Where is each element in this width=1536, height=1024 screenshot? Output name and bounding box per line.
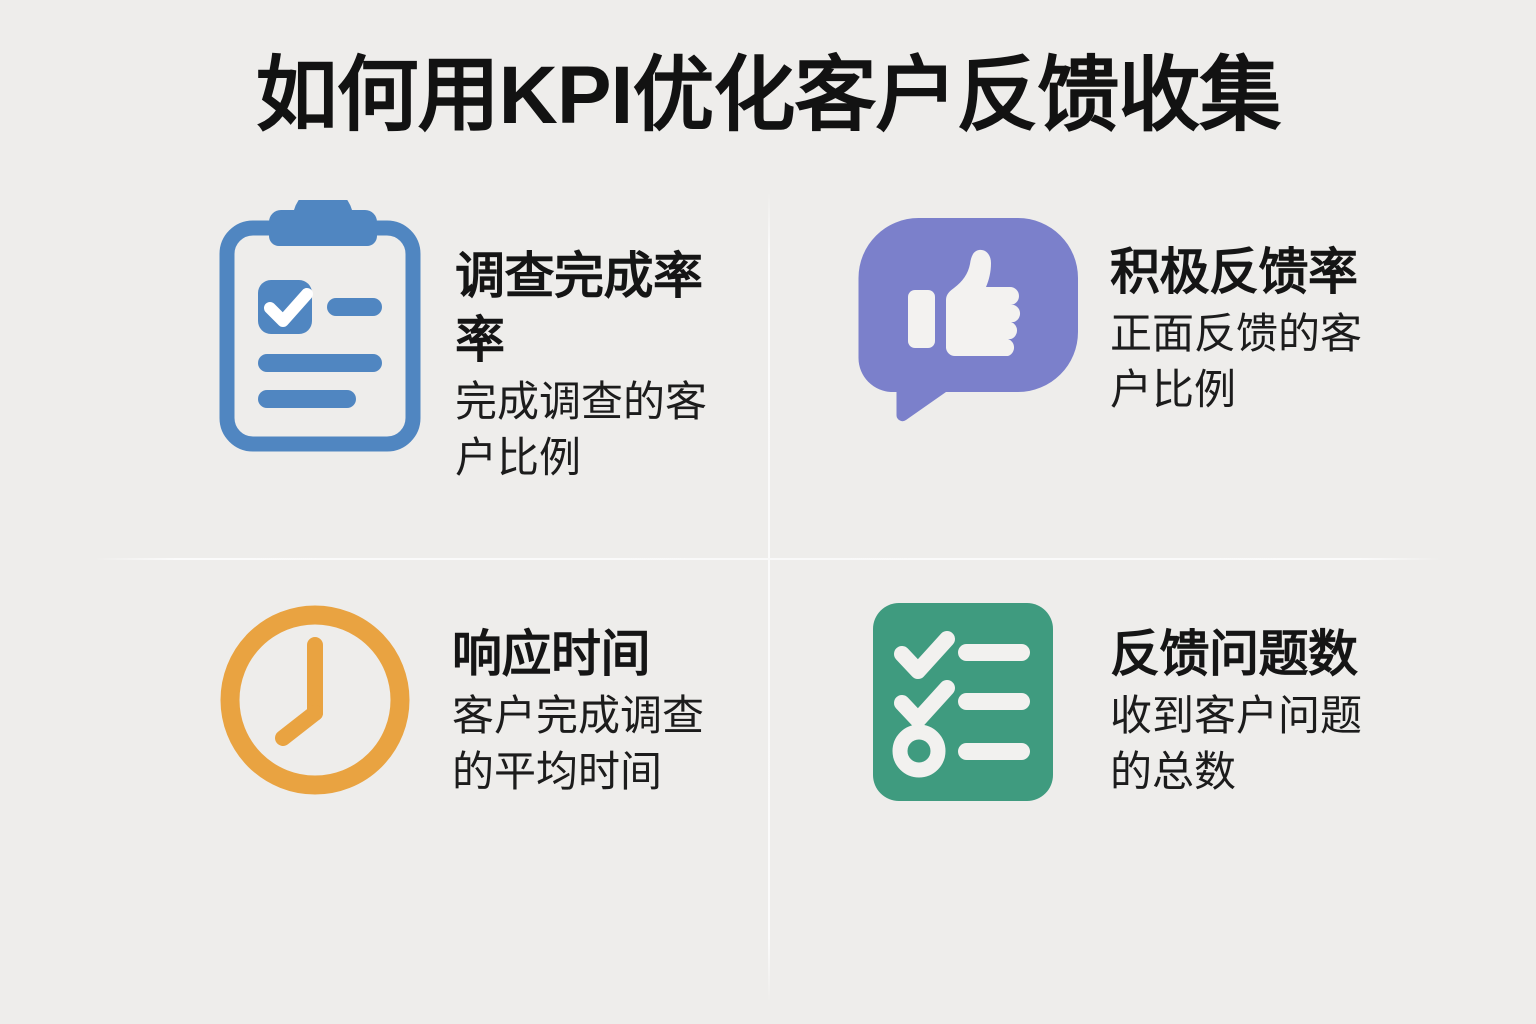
icon-container bbox=[848, 560, 1088, 813]
card-description: 客户完成调查的平均时间 bbox=[452, 688, 710, 800]
card-description: 正面反馈的客户比例 bbox=[1110, 306, 1370, 418]
card-description: 完成调查的客户比例 bbox=[455, 374, 710, 486]
thumbs-up-speech-bubble-icon bbox=[852, 212, 1084, 429]
card-title: 响应时间 bbox=[452, 622, 722, 686]
clock-icon bbox=[215, 600, 415, 805]
kpi-grid: 调查完成率率 完成调查的客户比例 积极反馈率 正面反馈的客户比例 bbox=[0, 182, 1536, 1024]
card-title: 反馈问题数 bbox=[1110, 622, 1440, 686]
card-title: 积极反馈率 bbox=[1110, 240, 1440, 304]
clipboard-checklist-icon bbox=[217, 200, 423, 459]
text-container: 积极反馈率 正面反馈的客户比例 bbox=[1110, 182, 1536, 418]
kpi-card-feedback-issue-count: 反馈问题数 收到客户问题的总数 bbox=[768, 560, 1536, 1024]
icon-container bbox=[200, 560, 430, 805]
kpi-card-survey-completion-rate: 调查完成率率 完成调查的客户比例 bbox=[0, 182, 768, 558]
text-container: 调查完成率率 完成调查的客户比例 bbox=[455, 182, 768, 486]
icon-container bbox=[205, 182, 435, 459]
text-container: 响应时间 客户完成调查的平均时间 bbox=[452, 560, 768, 800]
kpi-card-positive-feedback-rate: 积极反馈率 正面反馈的客户比例 bbox=[768, 182, 1536, 558]
icon-container bbox=[848, 182, 1088, 429]
card-title: 调查完成率率 bbox=[455, 244, 725, 372]
text-container: 反馈问题数 收到客户问题的总数 bbox=[1110, 560, 1536, 800]
kpi-card-response-time: 响应时间 客户完成调查的平均时间 bbox=[0, 560, 768, 1024]
card-description: 收到客户问题的总数 bbox=[1110, 688, 1372, 800]
checklist-square-icon bbox=[868, 598, 1068, 813]
page-title: 如何用KPI优化客户反馈收集 bbox=[0, 44, 1536, 148]
